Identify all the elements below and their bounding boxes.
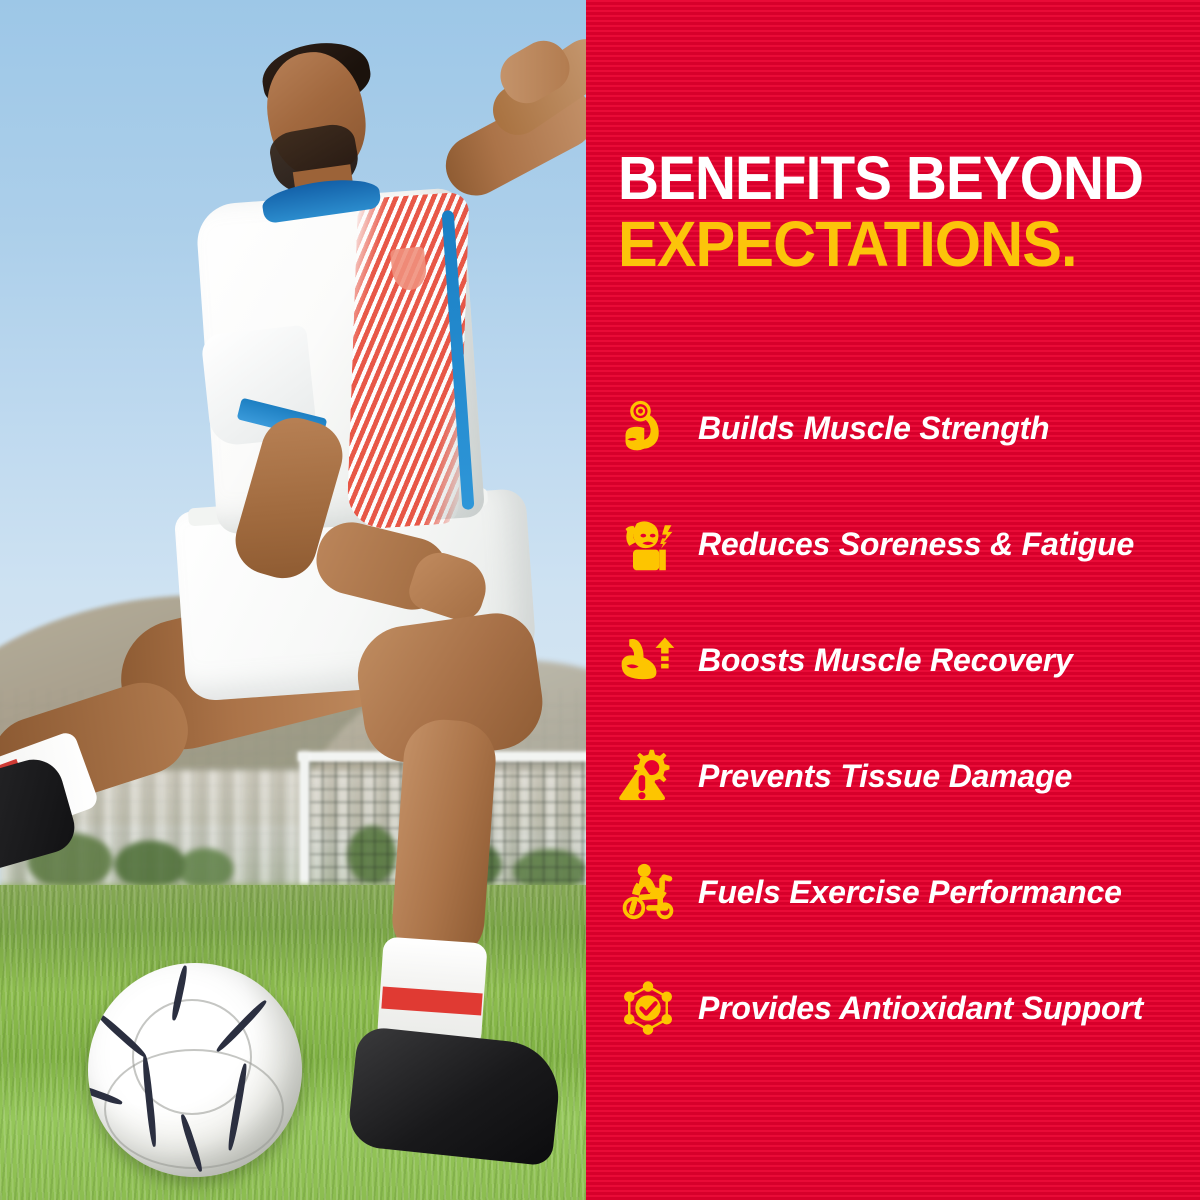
benefit-item: Prevents Tissue Damage — [612, 736, 1192, 816]
benefit-label: Prevents Tissue Damage — [698, 758, 1072, 795]
benefit-label: Provides Antioxidant Support — [698, 990, 1143, 1027]
benefit-item: Builds Muscle Strength — [612, 388, 1192, 468]
soccer-ball — [88, 963, 302, 1177]
benefit-item: Boosts Muscle Recovery — [612, 620, 1192, 700]
soccer-player — [0, 0, 586, 1200]
exercise-bike-icon — [616, 860, 680, 924]
benefit-label: Boosts Muscle Recovery — [698, 642, 1073, 679]
benefit-label: Fuels Exercise Performance — [698, 874, 1122, 911]
flexed-bicep-dumbbell-icon — [616, 396, 680, 460]
benefit-item: Provides Antioxidant Support — [612, 968, 1192, 1048]
benefits-panel: BENEFITS BEYOND EXPECTATIONS. — [586, 0, 1200, 1200]
benefits-list: Builds Muscle Strength — [612, 388, 1192, 1048]
flexed-bicep-up-arrow-icon — [616, 628, 680, 692]
benefit-label: Reduces Soreness & Fatigue — [698, 526, 1134, 563]
gear-warning-triangle-icon — [616, 744, 680, 808]
player-right-shin — [390, 717, 499, 963]
benefits-poster: BENEFITS BEYOND EXPECTATIONS. — [0, 0, 1200, 1200]
page-title: BENEFITS BEYOND EXPECTATIONS. — [618, 150, 1184, 275]
headline-line-1: BENEFITS BEYOND — [618, 150, 1144, 208]
benefit-label: Builds Muscle Strength — [698, 410, 1049, 447]
headline-line-2: EXPECTATIONS. — [618, 214, 1144, 275]
athlete-photo — [0, 0, 586, 1200]
benefit-item: Reduces Soreness & Fatigue — [612, 504, 1192, 584]
tired-person-headache-icon — [616, 512, 680, 576]
player-right-boot — [346, 1026, 563, 1167]
molecule-checkmark-icon — [616, 976, 680, 1040]
benefit-item: Fuels Exercise Performance — [612, 852, 1192, 932]
